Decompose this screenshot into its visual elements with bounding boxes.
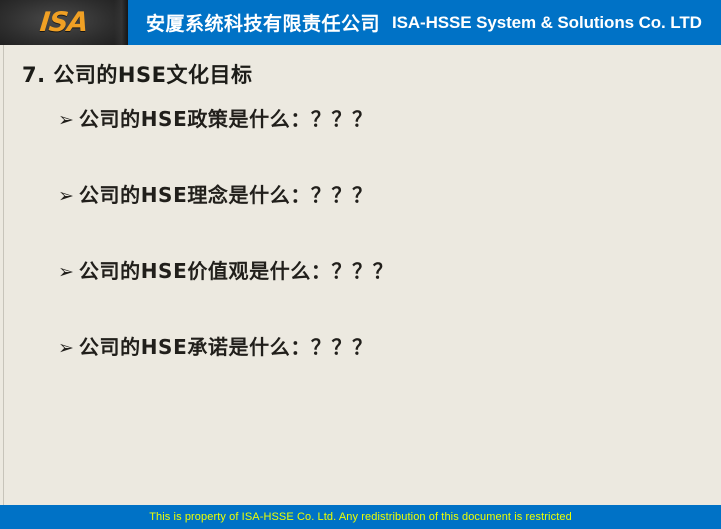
company-name-chinese: 安厦系统科技有限责任公司 <box>146 9 380 36</box>
header-title-group: 安厦系统科技有限责任公司 ISA-HSSE System & Solutions… <box>146 0 702 45</box>
list-item: ➢ 公司的HSE承诺是什么：？？？ <box>58 331 698 407</box>
slide-content-area: 7. 公司的HSE文化目标 ➢ 公司的HSE政策是什么：？？？ ➢ 公司的HSE… <box>0 45 721 505</box>
list-item: ➢ 公司的HSE政策是什么：？？？ <box>58 103 698 179</box>
company-logo-panel: ISA <box>0 0 128 45</box>
arrow-bullet-icon: ➢ <box>58 187 74 206</box>
bullet-list: ➢ 公司的HSE政策是什么：？？？ ➢ 公司的HSE理念是什么：？？？ ➢ 公司… <box>58 103 698 407</box>
slide-footer-bar: This is property of ISA-HSSE Co. Ltd. An… <box>0 505 721 529</box>
list-item-label: 公司的HSE政策是什么：？？？ <box>79 103 373 132</box>
presentation-slide: ISA 安厦系统科技有限责任公司 ISA-HSSE System & Solut… <box>0 0 721 529</box>
slide-title: 7. 公司的HSE文化目标 <box>22 59 252 89</box>
list-item-label: 公司的HSE承诺是什么：？？？ <box>79 331 373 360</box>
content-left-rule <box>3 45 4 505</box>
arrow-bullet-icon: ➢ <box>58 339 74 358</box>
arrow-bullet-icon: ➢ <box>58 111 74 130</box>
arrow-bullet-icon: ➢ <box>58 263 74 282</box>
list-item: ➢ 公司的HSE价值观是什么：？？？ <box>58 255 698 331</box>
list-item-label: 公司的HSE价值观是什么：？？？ <box>79 255 393 284</box>
list-item-label: 公司的HSE理念是什么：？？？ <box>79 179 373 208</box>
company-name-english: ISA-HSSE System & Solutions Co. LTD <box>392 13 702 33</box>
isa-logo-icon: ISA <box>39 7 90 38</box>
slide-header-bar: ISA 安厦系统科技有限责任公司 ISA-HSSE System & Solut… <box>0 0 721 45</box>
list-item: ➢ 公司的HSE理念是什么：？？？ <box>58 179 698 255</box>
copyright-notice: This is property of ISA-HSSE Co. Ltd. An… <box>149 511 572 523</box>
